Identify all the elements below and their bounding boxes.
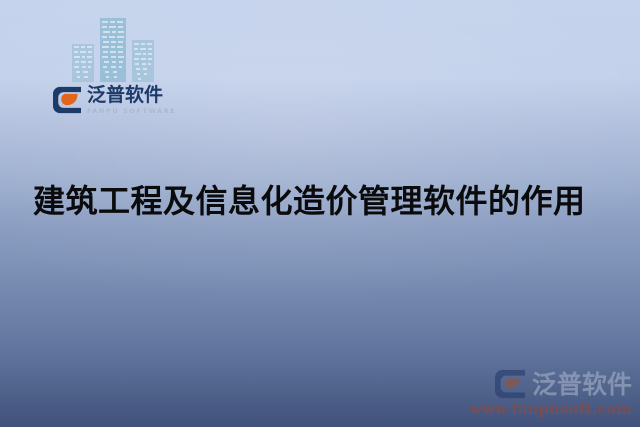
watermark-logo-row: 泛普软件 xyxy=(464,369,632,399)
watermark: 泛普软件 www.fanpusoft.com xyxy=(464,369,632,419)
brand-name-en: FANPU SOFTWARE xyxy=(87,108,176,115)
brand-name-cn: 泛普软件 xyxy=(87,86,176,105)
fanpu-hexagon-swoosh-logo-icon xyxy=(52,86,82,114)
fanpu-hexagon-swoosh-logo-icon xyxy=(493,369,527,399)
watermark-name-cn: 泛普软件 xyxy=(532,372,632,397)
brand-wordmark: 泛普软件 FANPU SOFTWARE xyxy=(87,86,176,115)
brand-block: 泛普软件 FANPU SOFTWARE xyxy=(44,8,174,126)
pixelated-city-skyline-icon xyxy=(68,12,164,84)
brand-logo-row: 泛普软件 FANPU SOFTWARE xyxy=(52,86,176,115)
watermark-url: www.fanpusoft.com xyxy=(464,401,632,418)
banner-image: 泛普软件 FANPU SOFTWARE 建筑工程及信息化造价管理软件的作用 泛普… xyxy=(0,0,640,427)
page-title: 建筑工程及信息化造价管理软件的作用 xyxy=(33,184,613,219)
